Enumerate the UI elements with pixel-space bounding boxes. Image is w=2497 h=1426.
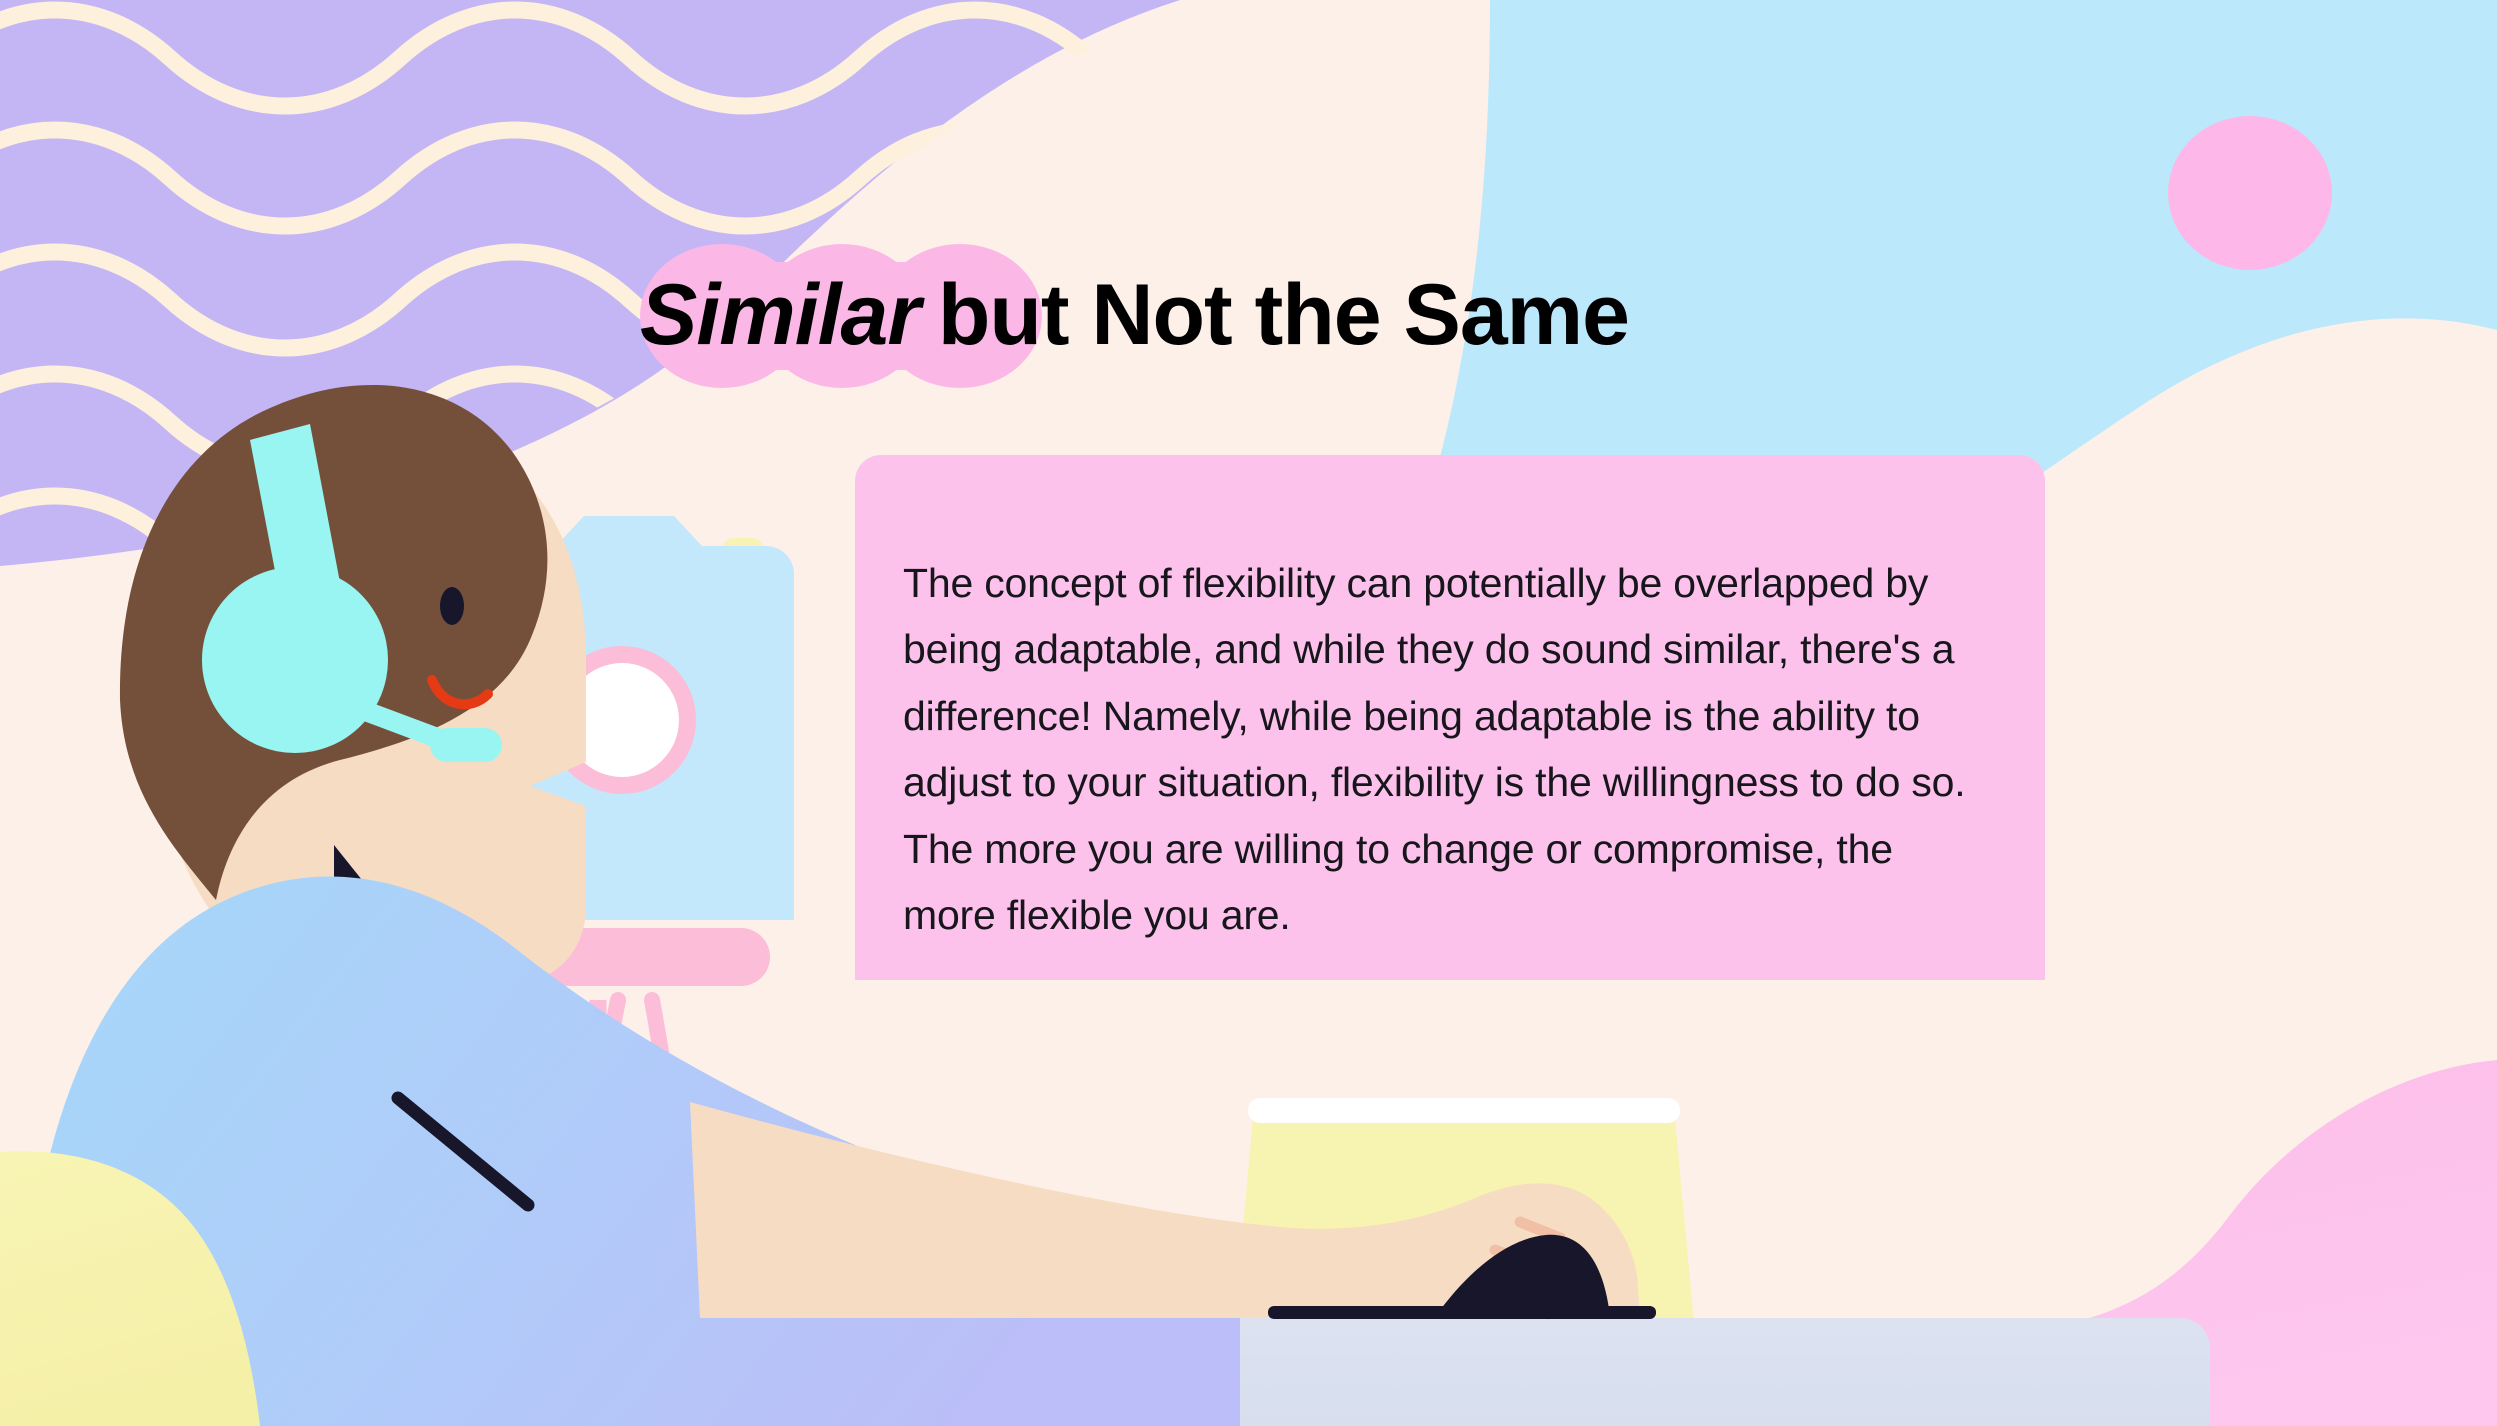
monitor-neck-highlight <box>1248 1098 1680 1123</box>
body-text-card: The concept of flexibility can potential… <box>855 455 2045 980</box>
eye <box>440 587 464 625</box>
desk-edge-line <box>1268 1306 1656 1319</box>
slide-canvas: Similar but Not the Same The concept of … <box>0 0 2497 1426</box>
page-title: Similar but Not the Same <box>640 250 1940 380</box>
title-emphasis-word: Similar <box>640 272 934 358</box>
body-paragraph: The concept of flexibility can potential… <box>903 550 1988 948</box>
mic-tip <box>430 728 502 762</box>
pink-circle <box>2168 116 2332 270</box>
headphone-earcup <box>202 567 388 753</box>
title-remainder: but Not the Same <box>934 272 1629 358</box>
